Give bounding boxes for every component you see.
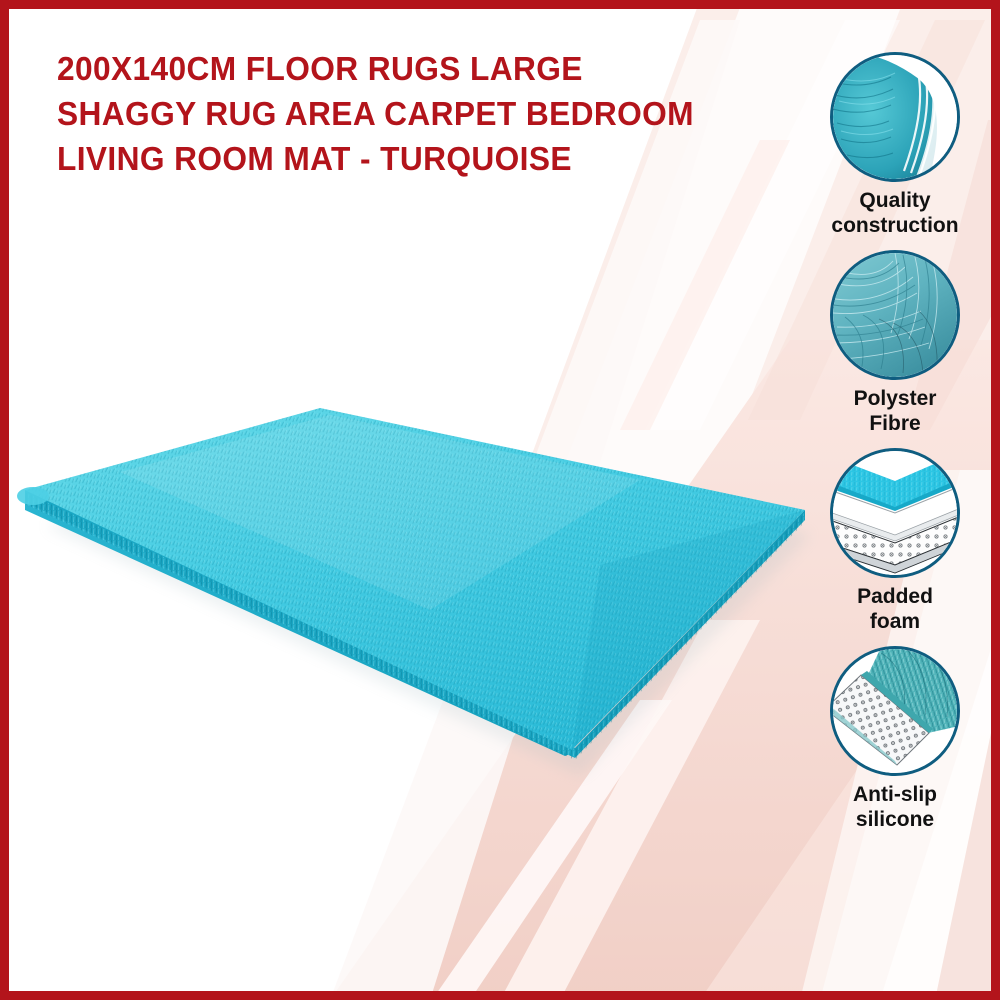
polyester-fibre-art (833, 253, 957, 377)
polyester-fibre-icon (830, 250, 960, 380)
feature-quality-construction: Quality construction (802, 52, 988, 238)
feature-padded-foam: Padded foam (802, 448, 988, 634)
label-line-2: silicone (802, 807, 988, 832)
label-line-1: Anti-slip (802, 782, 988, 807)
label-line-1: Quality (802, 188, 988, 213)
anti-slip-silicone-art (833, 649, 957, 773)
padded-foam-layers-icon (830, 448, 960, 578)
label-line-2: construction (802, 213, 988, 238)
feature-list: Quality construction (802, 52, 988, 844)
feature-label-polyster-fibre: Polyster Fibre (802, 386, 988, 436)
title-line-1: 200X140CM FLOOR RUGS LARGE (57, 46, 767, 91)
feature-polyster-fibre: Polyster Fibre (802, 250, 988, 436)
padded-foam-layers-art (833, 451, 957, 575)
label-line-2: foam (802, 609, 988, 634)
label-line-1: Padded (802, 584, 988, 609)
rug-illustration (0, 360, 830, 800)
product-banner: 200X140CM FLOOR RUGS LARGE SHAGGY RUG AR… (0, 0, 1000, 1000)
title-line-3: LIVING ROOM MAT - TURQUOISE (57, 136, 767, 181)
title-line-2: SHAGGY RUG AREA CARPET BEDROOM (57, 91, 767, 136)
label-line-1: Polyster (802, 386, 988, 411)
feature-label-quality-construction: Quality construction (802, 188, 988, 238)
feature-anti-slip-silicone: Anti-slip silicone (802, 646, 988, 832)
label-line-2: Fibre (802, 411, 988, 436)
rug-fibre-closeup-icon (830, 52, 960, 182)
product-image-rug (0, 360, 830, 800)
anti-slip-silicone-backing-icon (830, 646, 960, 776)
feature-label-anti-slip-silicone: Anti-slip silicone (802, 782, 988, 832)
feature-label-padded-foam: Padded foam (802, 584, 988, 634)
rug-fibre-closeup-art (833, 55, 957, 179)
product-title: 200X140CM FLOOR RUGS LARGE SHAGGY RUG AR… (57, 46, 797, 181)
